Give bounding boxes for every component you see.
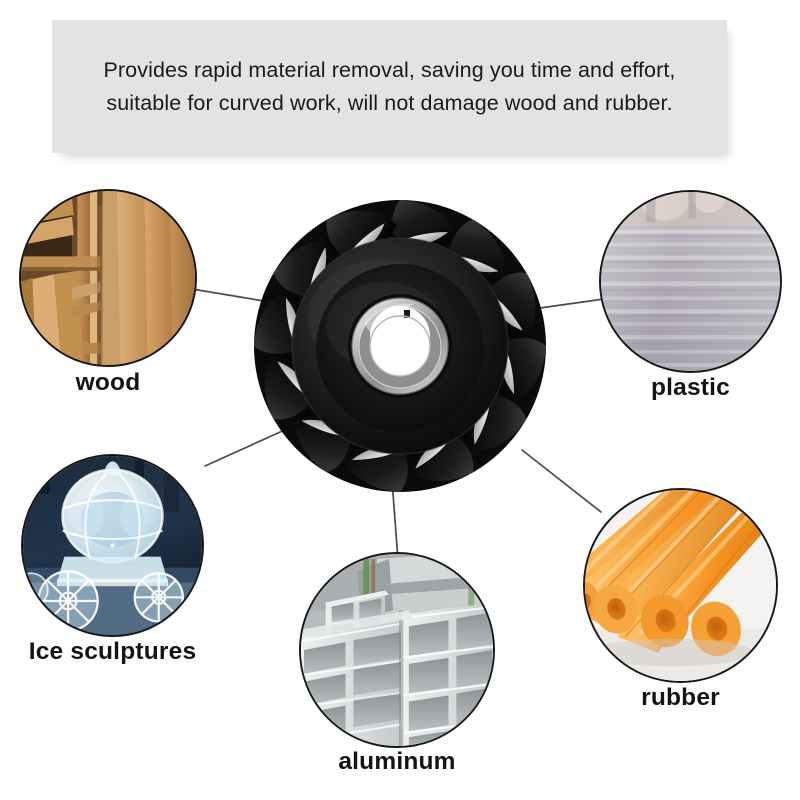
headline-banner: Provides rapid material removal, saving … [52, 20, 727, 153]
product-image-wood-carving-disc [252, 198, 548, 494]
material-label-wood: wood [0, 369, 237, 397]
headline-text: Provides rapid material removal, saving … [90, 54, 690, 120]
material-image-wood [19, 189, 197, 367]
infographic-canvas: Provides rapid material removal, saving … [0, 0, 800, 800]
rubber-illustration [583, 488, 778, 683]
material-card-aluminum: aluminum [299, 552, 495, 748]
material-label-plastic: plastic [559, 374, 800, 402]
material-image-ice-sculptures [21, 454, 204, 637]
connector-line-plastic [540, 299, 604, 308]
ice-sculpture-illustration [21, 454, 204, 637]
material-image-plastic [599, 190, 782, 373]
material-card-ice-sculptures: Ice sculptures [21, 454, 204, 637]
wood-illustration [19, 189, 197, 367]
carving-disc-illustration [252, 198, 548, 494]
material-card-plastic: plastic [599, 190, 782, 373]
material-label-aluminum: aluminum [259, 748, 535, 776]
material-label-ice-sculptures: Ice sculptures [0, 638, 244, 666]
plastic-illustration [599, 190, 782, 373]
material-image-rubber [583, 488, 778, 683]
material-card-rubber: rubber [583, 488, 778, 683]
material-label-rubber: rubber [543, 684, 800, 712]
material-image-aluminum [299, 552, 495, 748]
material-card-wood: wood [19, 189, 197, 367]
aluminum-illustration [299, 552, 495, 748]
